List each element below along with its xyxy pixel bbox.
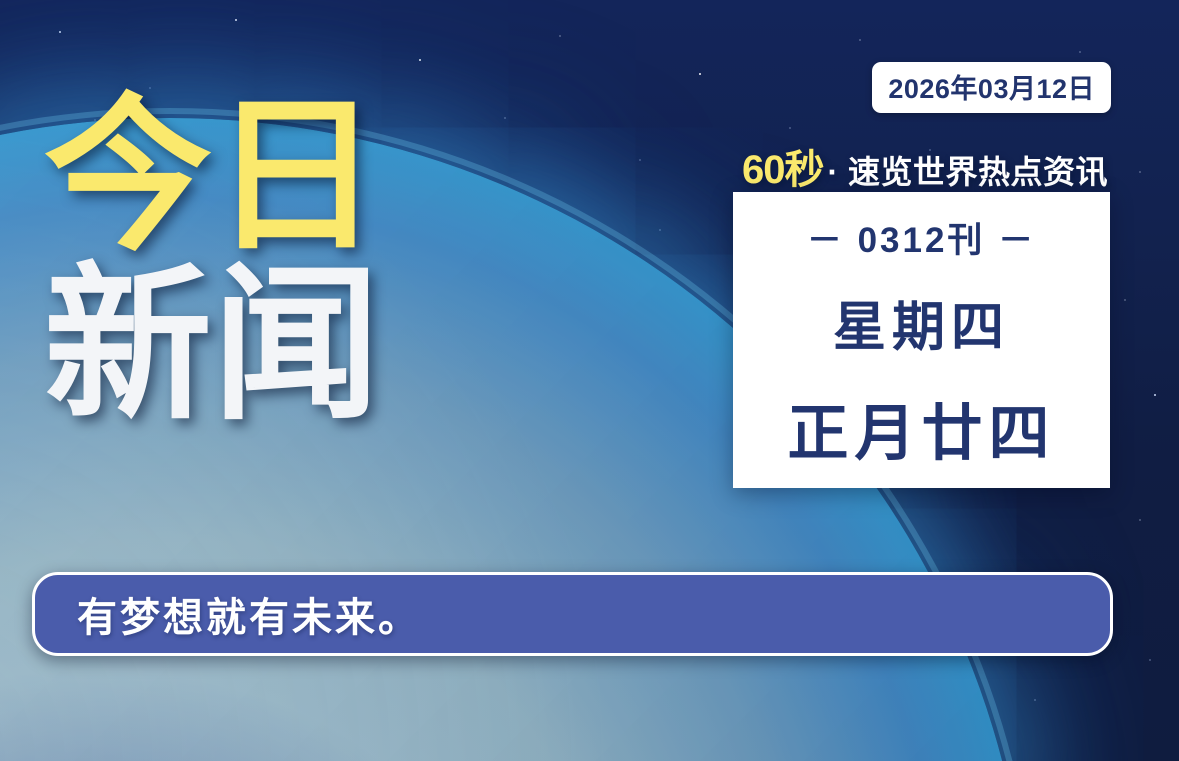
title-line-xinwen: 新闻 [44,265,380,426]
tagline: 60秒 · 速览世界热点资讯 [742,137,1108,195]
tagline-seconds: 60秒 [742,137,824,195]
page-title: 今日 新闻 [44,96,380,427]
issue-card: － 0312刊 － 星期四 正月廿四 [733,192,1110,488]
news-poster: 今日 新闻 2026年03月12日 60秒 · 速览世界热点资讯 － 0312刊… [0,0,1179,761]
issue-number: － 0312刊 － [807,212,1036,263]
lunar-date-label: 正月廿四 [787,383,1055,472]
tagline-text: · 速览世界热点资讯 [828,147,1109,193]
quote-bar: 有梦想就有未来。 [32,572,1113,656]
title-line-jinri: 今日 [44,96,380,257]
date-badge: 2026年03月12日 [872,62,1111,113]
quote-text: 有梦想就有未来。 [77,585,421,643]
weekday-label: 星期四 [833,285,1010,361]
